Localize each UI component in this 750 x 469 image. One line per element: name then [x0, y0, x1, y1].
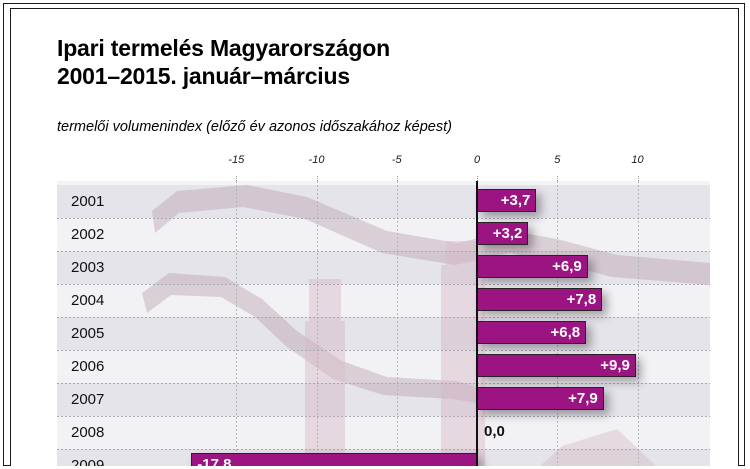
page-title: Ipari termelés Magyarországon 2001–2015.…: [57, 34, 697, 90]
x-axis-tick-label: -10: [309, 154, 325, 166]
row-separator: [57, 317, 710, 318]
year-label-2005: 2005: [71, 325, 104, 342]
bar-value-2006: +9,9: [590, 354, 630, 377]
year-label-2001: 2001: [71, 193, 104, 210]
row-separator: [57, 383, 710, 384]
title-line-2: 2001–2015. január–március: [57, 62, 697, 90]
bar-value-2005: +6,8: [540, 321, 580, 344]
x-axis-tick-label: 5: [554, 154, 560, 166]
bar-value-2003: +6,9: [542, 255, 582, 278]
background-watermark-graphic: [57, 181, 710, 466]
vertical-gridline: [317, 181, 318, 466]
row-separator: [57, 284, 710, 285]
year-label-2003: 2003: [71, 259, 104, 276]
zero-axis-line: [476, 181, 478, 466]
bar-value-2009: -17,8: [197, 453, 231, 466]
x-axis-tick-label: -5: [392, 154, 402, 166]
row-separator: [57, 350, 710, 351]
x-axis-tick-label: 0: [474, 154, 480, 166]
plot-area: 2001+3,72002+3,22003+6,92004+7,82005+6,8…: [57, 181, 710, 466]
year-label-2006: 2006: [71, 358, 104, 375]
year-label-2007: 2007: [71, 391, 104, 408]
x-axis: -15-10-50510: [57, 154, 710, 181]
title-line-1: Ipari termelés Magyarországon: [57, 34, 697, 62]
row-separator: [57, 218, 710, 219]
vertical-gridline: [638, 181, 639, 466]
bar-chart: -15-10-50510 2001+3,72002+3,22003+6,: [57, 154, 710, 466]
year-label-2009: 2009: [71, 457, 104, 466]
vertical-gridline: [397, 181, 398, 466]
bar-value-2002: +3,2: [482, 222, 522, 245]
bar-value-2008: 0,0: [484, 420, 505, 443]
bar-value-2007: +7,9: [558, 387, 598, 410]
year-label-2008: 2008: [71, 424, 104, 441]
year-label-2002: 2002: [71, 226, 104, 243]
vertical-gridline: [236, 181, 237, 466]
row-separator: [57, 449, 710, 450]
bar-2009: [191, 453, 477, 466]
x-axis-tick-label: -15: [228, 154, 244, 166]
chart-subtitle: termelői volumenindex (előző év azonos i…: [57, 119, 452, 135]
x-axis-tick-label: 10: [631, 154, 643, 166]
year-label-2004: 2004: [71, 292, 104, 309]
bar-value-2001: +3,7: [490, 189, 530, 212]
bar-value-2004: +7,8: [556, 288, 596, 311]
row-separator: [57, 416, 710, 417]
row-separator: [57, 251, 710, 252]
chart-card: Ipari termelés Magyarországon 2001–2015.…: [10, 8, 739, 466]
